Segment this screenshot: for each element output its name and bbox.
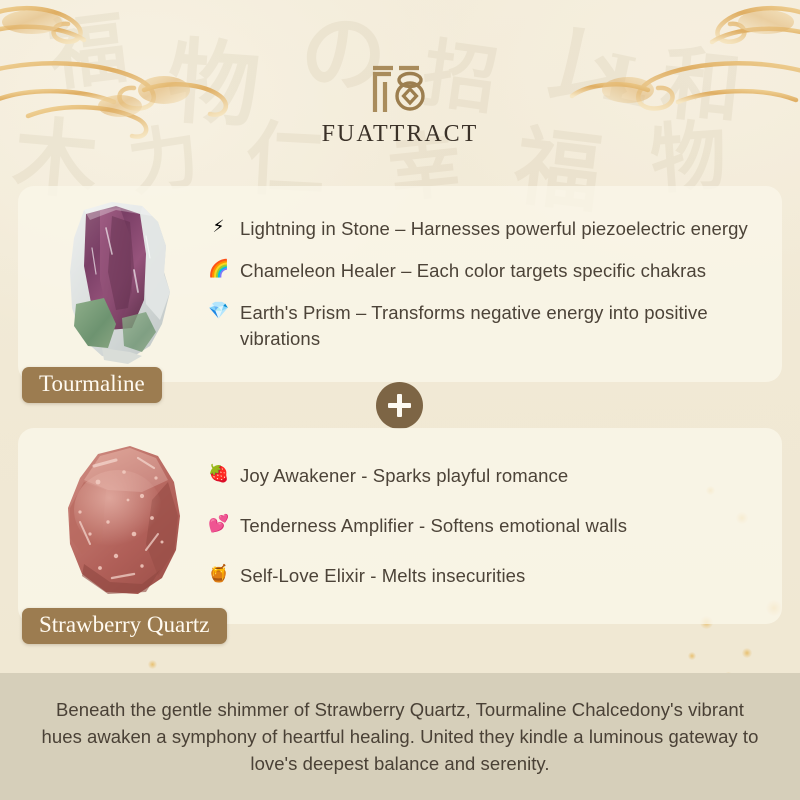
list-item-text: Earth's Prism – Transforms negative ener… (240, 300, 760, 352)
gem-stone-icon: 💎 (208, 300, 229, 322)
footer-description: Beneath the gentle shimmer of Strawberry… (34, 696, 766, 777)
list-item-text: Chameleon Healer – Each color targets sp… (240, 258, 706, 284)
list-item: 💕 Tenderness Amplifier - Softens emotion… (208, 513, 760, 539)
list-item: 🍯 Self-Love Elixir - Melts insecurities (208, 563, 760, 589)
list-item: ⚡ Lightning in Stone – Harnesses powerfu… (208, 216, 760, 242)
strawberry-quartz-raw-stone-photo (46, 438, 198, 614)
brand-wordmark: FUATTRACT (322, 121, 479, 148)
two-hearts-icon: 💕 (208, 513, 229, 535)
list-item-text: Lightning in Stone – Harnesses powerful … (240, 216, 748, 242)
list-item: 🍓 Joy Awakener - Sparks playful romance (208, 463, 760, 489)
sparkle-fleck (742, 648, 752, 658)
list-item: 🌈 Chameleon Healer – Each color targets … (208, 258, 760, 284)
brand-logo: FUATTRACT (0, 62, 800, 148)
list-item-text: Joy Awakener - Sparks playful romance (240, 463, 568, 489)
product-card-strawberry-quartz: 🍓 Joy Awakener - Sparks playful romance … (18, 428, 782, 624)
list-item-text: Tenderness Amplifier - Softens emotional… (240, 513, 627, 539)
lightning-bolt-icon: ⚡ (208, 216, 229, 238)
footer-band: Beneath the gentle shimmer of Strawberry… (0, 673, 800, 800)
product-badge-tourmaline: Tourmaline (22, 367, 162, 403)
strawberry-quartz-benefit-list: 🍓 Joy Awakener - Sparks playful romance … (208, 428, 760, 624)
tourmaline-raw-crystal-photo (46, 196, 198, 372)
fuattract-monogram-icon (369, 62, 431, 114)
strawberry-icon: 🍓 (208, 463, 229, 485)
tourmaline-benefit-list: ⚡ Lightning in Stone – Harnesses powerfu… (208, 186, 760, 382)
list-item-text: Self-Love Elixir - Melts insecurities (240, 563, 525, 589)
infographic-page: 福 物 の 招 ム 和 木 力 仁 幸 福 物 L (0, 0, 800, 800)
sparkle-fleck (148, 660, 157, 669)
product-badge-strawberry-quartz: Strawberry Quartz (22, 608, 227, 644)
sparkle-fleck (688, 652, 696, 660)
honey-pot-icon: 🍯 (208, 563, 229, 585)
plus-icon (376, 382, 423, 429)
rainbow-icon: 🌈 (208, 258, 229, 280)
list-item: 💎 Earth's Prism – Transforms negative en… (208, 300, 760, 352)
product-card-tourmaline: ⚡ Lightning in Stone – Harnesses powerfu… (18, 186, 782, 382)
plus-vertical-bar (397, 394, 402, 417)
